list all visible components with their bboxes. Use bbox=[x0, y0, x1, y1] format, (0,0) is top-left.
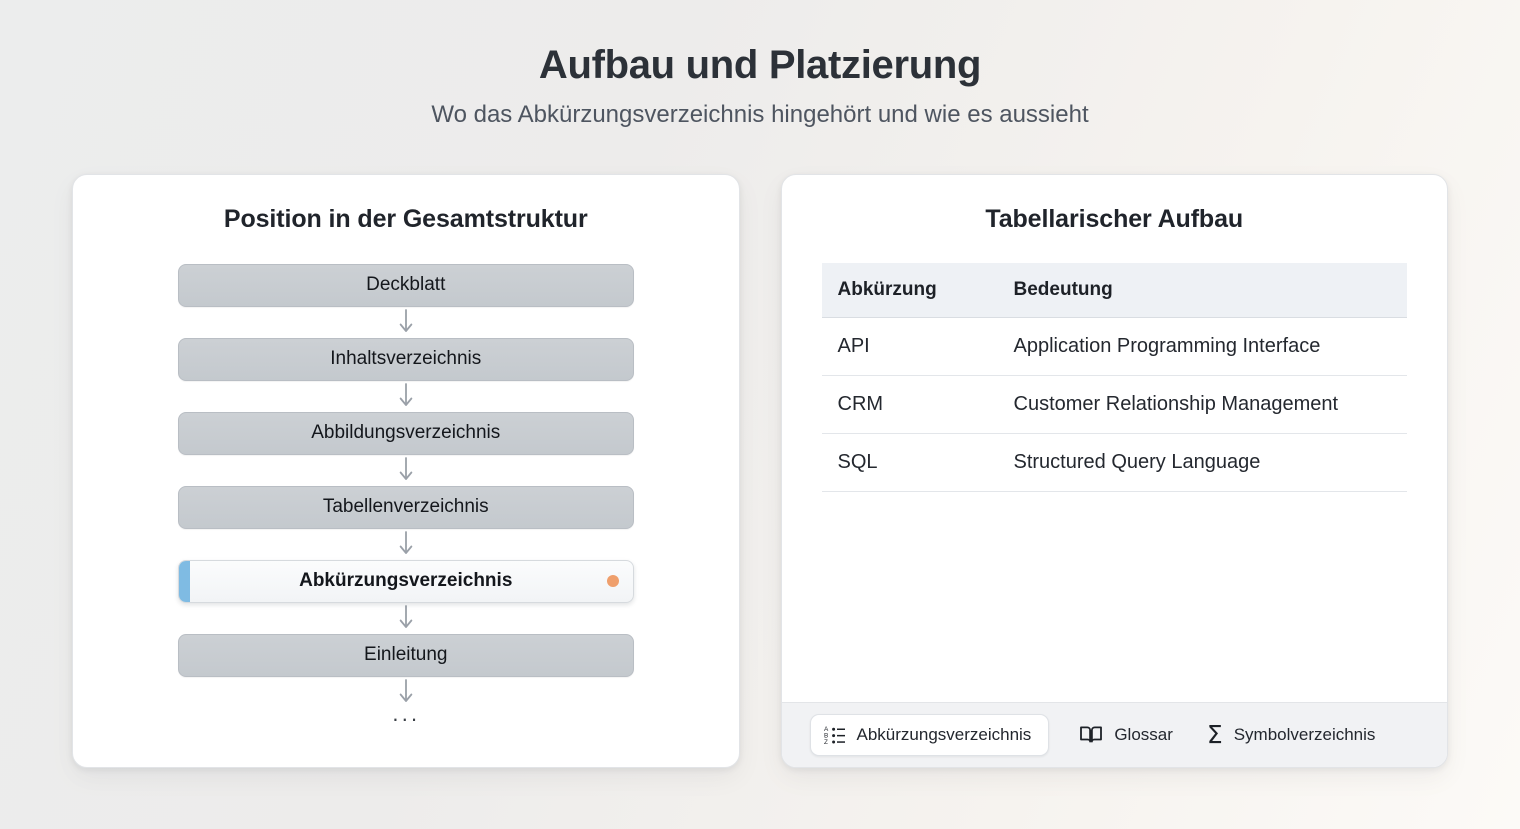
column-header-abbreviation: Abkürzung bbox=[822, 263, 998, 318]
flow-arrow-down-icon bbox=[178, 529, 634, 560]
cell-meaning: Structured Query Language bbox=[998, 433, 1408, 491]
flow-arrow-down-icon bbox=[178, 307, 634, 338]
flow-step-label: Abkürzungsverzeichnis bbox=[299, 570, 512, 592]
cell-abbreviation: SQL bbox=[822, 433, 998, 491]
sigma-icon: Σ bbox=[1207, 722, 1223, 747]
flow-ellipsis: ··· bbox=[178, 708, 634, 730]
page-root: Aufbau und Platzierung Wo das Abkürzungs… bbox=[0, 0, 1520, 829]
table-header-row: Abkürzung Bedeutung bbox=[822, 263, 1408, 318]
flow-step-label: Abbildungsverzeichnis bbox=[311, 422, 500, 444]
flow-arrow-down-icon bbox=[178, 677, 634, 708]
table-row: APIApplication Programming Interface bbox=[822, 317, 1408, 375]
table-head: Abkürzung Bedeutung bbox=[822, 263, 1408, 318]
status-dot-icon bbox=[607, 575, 619, 587]
flow-step-label: Inhaltsverzeichnis bbox=[330, 348, 481, 370]
page-title: Aufbau und Platzierung bbox=[0, 42, 1520, 89]
structure-position-card: Position in der Gesamtstruktur Deckblatt… bbox=[72, 174, 740, 768]
document-structure-flow: DeckblattInhaltsverzeichnisAbbildungsver… bbox=[73, 234, 739, 730]
flow-arrow-down-icon bbox=[178, 381, 634, 412]
toolbar-chip-label: Abkürzungsverzeichnis bbox=[857, 725, 1032, 745]
flow-step-current[interactable]: Abkürzungsverzeichnis bbox=[178, 560, 634, 603]
table-row: SQLStructured Query Language bbox=[822, 433, 1408, 491]
flow-step[interactable]: Inhaltsverzeichnis bbox=[178, 338, 634, 381]
cell-meaning: Customer Relationship Management bbox=[998, 375, 1408, 433]
flow-arrow-down-icon bbox=[178, 603, 634, 634]
toolbar-chip-glossar[interactable]: Glossar bbox=[1075, 715, 1177, 755]
abbreviation-table-wrap: Abkürzung Bedeutung APIApplication Progr… bbox=[782, 234, 1448, 702]
flow-step[interactable]: Abbildungsverzeichnis bbox=[178, 412, 634, 455]
flow-step-label: Einleitung bbox=[364, 644, 447, 666]
page-header: Aufbau und Platzierung Wo das Abkürzungs… bbox=[0, 0, 1520, 130]
toolbar-chip-label: Glossar bbox=[1114, 725, 1173, 745]
right-card-title: Tabellarischer Aufbau bbox=[782, 175, 1448, 234]
current-step-accent-bar bbox=[179, 561, 190, 602]
left-card-title: Position in der Gesamtstruktur bbox=[73, 175, 739, 234]
cell-meaning: Application Programming Interface bbox=[998, 317, 1408, 375]
svg-text:Z: Z bbox=[824, 739, 828, 746]
flow-step[interactable]: Tabellenverzeichnis bbox=[178, 486, 634, 529]
column-header-meaning: Bedeutung bbox=[998, 263, 1408, 318]
table-body: APIApplication Programming InterfaceCRMC… bbox=[822, 317, 1408, 491]
abc-list-icon: ABZ bbox=[824, 724, 846, 746]
cell-abbreviation: CRM bbox=[822, 375, 998, 433]
flow-step[interactable]: Einleitung bbox=[178, 634, 634, 677]
cell-abbreviation: API bbox=[822, 317, 998, 375]
table-row: CRMCustomer Relationship Management bbox=[822, 375, 1408, 433]
open-book-icon bbox=[1079, 724, 1103, 746]
toolbar-chip-label: Symbolverzeichnis bbox=[1234, 725, 1376, 745]
flow-step-label: Tabellenverzeichnis bbox=[323, 496, 489, 518]
page-subtitle: Wo das Abkürzungsverzeichnis hingehört u… bbox=[0, 101, 1520, 130]
table-structure-card: Tabellarischer Aufbau Abkürzung Bedeutun… bbox=[781, 174, 1449, 768]
flow-step[interactable]: Deckblatt bbox=[178, 264, 634, 307]
flow-arrow-down-icon bbox=[178, 455, 634, 486]
verzeichnis-type-toolbar: ABZAbkürzungsverzeichnisGlossarΣSymbolve… bbox=[782, 702, 1448, 767]
toolbar-chip-symbolverzeichnis[interactable]: ΣSymbolverzeichnis bbox=[1203, 713, 1380, 756]
cards-row: Position in der Gesamtstruktur Deckblatt… bbox=[0, 130, 1520, 768]
toolbar-chip-abkürzungsverzeichnis[interactable]: ABZAbkürzungsverzeichnis bbox=[810, 714, 1050, 756]
abbreviation-table: Abkürzung Bedeutung APIApplication Progr… bbox=[822, 263, 1408, 492]
flow-step-label: Deckblatt bbox=[366, 274, 445, 296]
